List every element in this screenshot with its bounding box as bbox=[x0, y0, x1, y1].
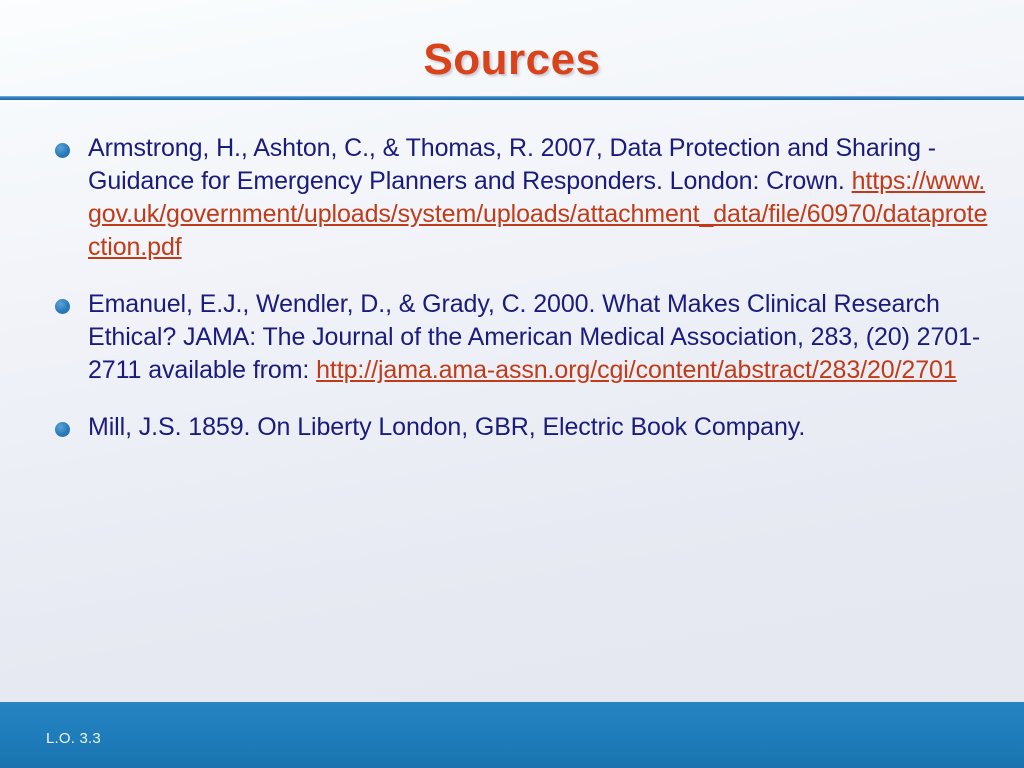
title-divider bbox=[0, 96, 1024, 100]
title-area: Sources bbox=[0, 38, 1024, 82]
reference-citation-text: Mill, J.S. 1859. On Liberty London, GBR,… bbox=[88, 413, 805, 441]
reference-text: Armstrong, H., Ashton, C., & Thomas, R. … bbox=[88, 132, 988, 264]
slide: Sources Armstrong, H., Ashton, C., & Tho… bbox=[0, 0, 1024, 768]
reference-citation-text: Armstrong, H., Ashton, C., & Thomas, R. … bbox=[88, 134, 936, 195]
bullet-icon bbox=[55, 143, 70, 158]
learning-objective-label: L.O. 3.3 bbox=[46, 730, 101, 747]
reference-text: Mill, J.S. 1859. On Liberty London, GBR,… bbox=[88, 411, 988, 444]
references-list: Armstrong, H., Ashton, C., & Thomas, R. … bbox=[46, 132, 988, 444]
list-item: Emanuel, E.J., Wendler, D., & Grady, C. … bbox=[46, 288, 988, 387]
reference-link[interactable]: http://jama.ama-assn.org/cgi/content/abs… bbox=[316, 356, 957, 384]
list-item: Mill, J.S. 1859. On Liberty London, GBR,… bbox=[46, 411, 988, 444]
footer-bar: L.O. 3.3 bbox=[0, 702, 1024, 768]
list-item: Armstrong, H., Ashton, C., & Thomas, R. … bbox=[46, 132, 988, 264]
bullet-icon bbox=[55, 422, 70, 437]
bullet-icon bbox=[55, 299, 70, 314]
page-title: Sources bbox=[423, 38, 600, 82]
reference-text: Emanuel, E.J., Wendler, D., & Grady, C. … bbox=[88, 288, 988, 387]
